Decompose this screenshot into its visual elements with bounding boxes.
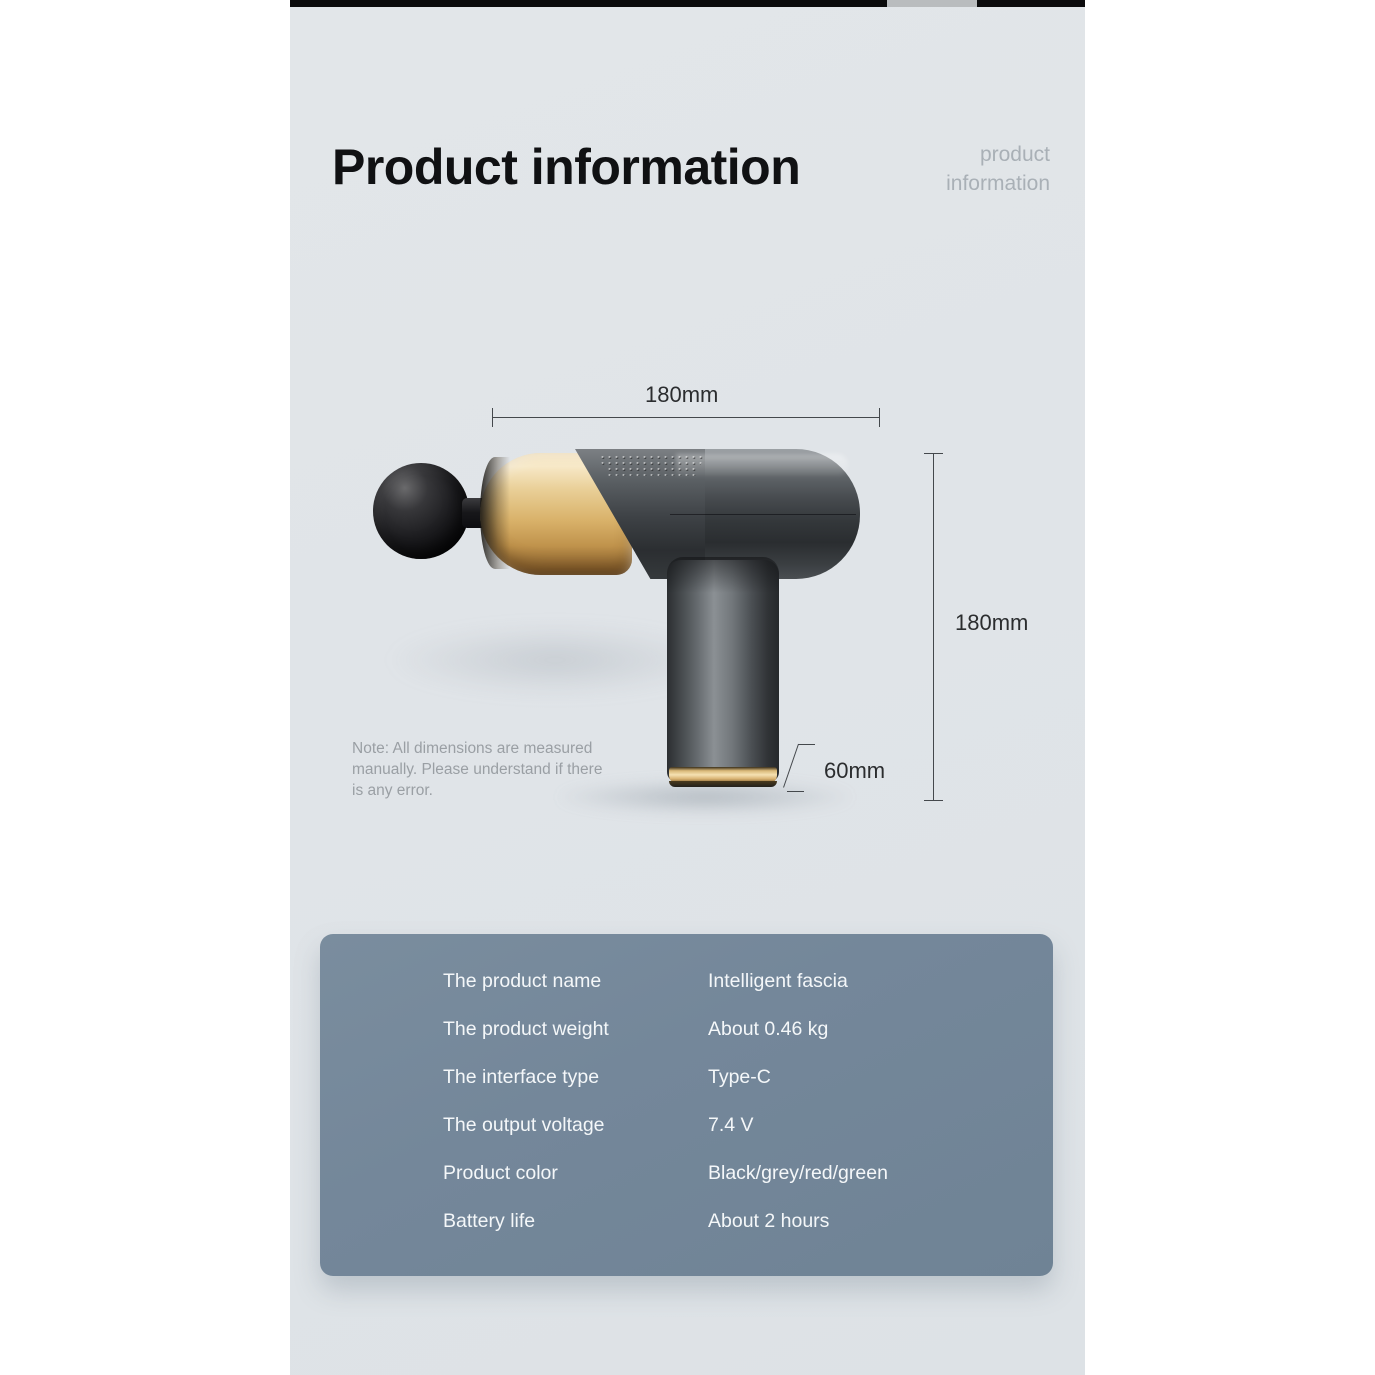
top-bar-highlight-segment: [887, 0, 977, 7]
product-dimension-stage: 180mm 180mm: [290, 360, 1085, 860]
table-row: Battery life About 2 hours: [320, 1210, 1053, 1240]
spec-value: About 0.46 kg: [708, 1018, 828, 1041]
dimension-height-label: 180mm: [955, 610, 1028, 636]
page-subtitle-line-2: information: [946, 169, 1050, 198]
dimension-height-cap-top: [924, 453, 943, 454]
spec-label: The interface type: [443, 1066, 599, 1089]
nose-cone-dark-edge: [480, 457, 510, 569]
dimension-width-cap-left: [492, 408, 493, 427]
table-row: Product color Black/grey/red/green: [320, 1162, 1053, 1192]
spec-label: The product name: [443, 970, 601, 993]
dimension-width-cap-right: [879, 408, 880, 427]
spec-label: The output voltage: [443, 1114, 605, 1137]
page-subtitle-line-1: product: [946, 140, 1050, 169]
spec-value: Black/grey/red/green: [708, 1162, 888, 1185]
spec-value: Type-C: [708, 1066, 771, 1089]
specification-card: The product name Intelligent fascia The …: [320, 934, 1053, 1276]
dimension-height-cap-bottom: [924, 800, 943, 801]
vent-grille-icon: [592, 454, 710, 476]
gun-handle: [667, 560, 779, 782]
content-panel: Product information product information …: [290, 0, 1085, 1375]
dimension-depth-cap-top: [798, 744, 815, 745]
spec-value: 7.4 V: [708, 1114, 754, 1137]
spec-label: The product weight: [443, 1018, 609, 1041]
measurement-note: Note: All dimensions are measured manual…: [352, 738, 617, 801]
spec-label: Battery life: [443, 1210, 535, 1233]
gun-handle-top-shading: [667, 557, 779, 593]
table-row: The product name Intelligent fascia: [320, 970, 1053, 1000]
spec-value: About 2 hours: [708, 1210, 829, 1233]
top-bar: [290, 0, 1085, 7]
table-row: The product weight About 0.46 kg: [320, 1018, 1053, 1048]
page-header: Product information product information: [290, 118, 1085, 228]
dimension-depth-label: 60mm: [824, 758, 885, 784]
spec-label: Product color: [443, 1162, 558, 1185]
spec-value: Intelligent fascia: [708, 970, 848, 993]
dimension-height-line: [933, 453, 934, 800]
dimension-width-label: 180mm: [645, 382, 718, 408]
gun-body-seam: [670, 514, 856, 515]
page-title: Product information: [332, 138, 800, 196]
page-subtitle: product information: [946, 140, 1050, 198]
dimension-depth-cap-bottom: [787, 791, 804, 792]
table-row: The interface type Type-C: [320, 1066, 1053, 1096]
dimension-width-line: [492, 417, 880, 418]
gun-handle-base-rim: [669, 781, 777, 787]
table-row: The output voltage 7.4 V: [320, 1114, 1053, 1144]
product-information-page: Product information product information …: [0, 0, 1375, 1375]
ball-head-attachment: [373, 463, 469, 559]
